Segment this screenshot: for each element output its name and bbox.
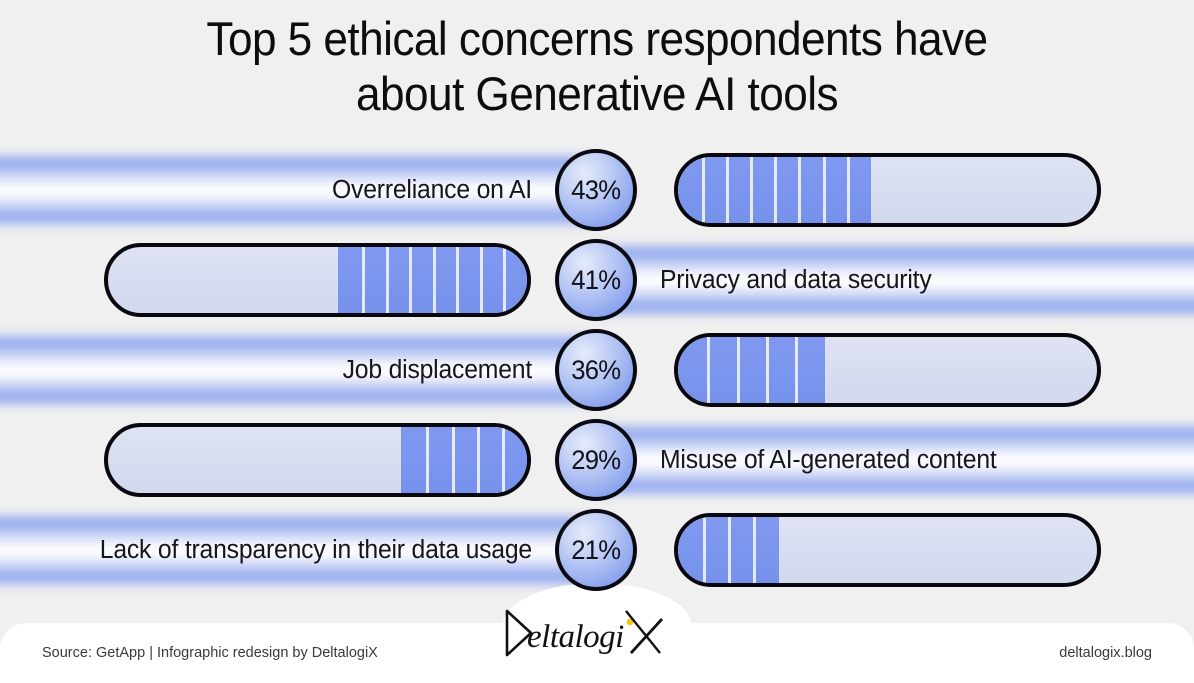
percent-value: 41% [571, 265, 620, 296]
progress-bar-fill [401, 427, 527, 493]
progress-bar-segments [338, 247, 527, 313]
website-url[interactable]: deltalogix.blog [1059, 623, 1152, 683]
concern-label: Lack of transparency in their data usage [16, 513, 532, 587]
concern-label: Overreliance on AI [16, 153, 532, 227]
progress-bar-segments [678, 157, 871, 223]
concern-label: Privacy and data security [660, 243, 1164, 317]
page-title-line-2: about Generative AI tools [36, 67, 1158, 122]
concern-row: Lack of transparency in their data usage… [0, 505, 1194, 595]
progress-bar-fill [678, 337, 825, 403]
progress-bar-fill [678, 517, 779, 583]
progress-bar-fill [338, 247, 527, 313]
progress-bar [674, 333, 1101, 407]
percent-badge: 21% [555, 509, 637, 591]
concern-row: Overreliance on AI43% [0, 145, 1194, 235]
percent-badge: 43% [555, 149, 637, 231]
percent-value: 21% [571, 535, 620, 566]
concern-label: Job displacement [16, 333, 532, 407]
deltalogix-logo: eltalogi [497, 605, 697, 661]
concerns-chart: Overreliance on AI43%Privacy and data se… [0, 145, 1194, 595]
concern-row: Job displacement36% [0, 325, 1194, 415]
progress-bar [104, 243, 531, 317]
svg-text:eltalogi: eltalogi [527, 619, 624, 655]
source-credit: Source: GetApp | Infographic redesign by… [42, 623, 378, 683]
concern-label: Misuse of AI-generated content [660, 423, 1164, 497]
progress-bar-segments [678, 517, 779, 583]
percent-badge: 41% [555, 239, 637, 321]
page-title: Top 5 ethical concerns respondents have … [0, 12, 1194, 122]
percent-badge: 29% [555, 419, 637, 501]
concern-row: Misuse of AI-generated content29% [0, 415, 1194, 505]
progress-bar [674, 513, 1101, 587]
page-title-line-1: Top 5 ethical concerns respondents have [206, 12, 987, 65]
progress-bar-segments [401, 427, 527, 493]
progress-bar-fill [678, 157, 871, 223]
concern-row: Privacy and data security41% [0, 235, 1194, 325]
percent-badge: 36% [555, 329, 637, 411]
percent-value: 29% [571, 445, 620, 476]
percent-value: 43% [571, 175, 620, 206]
progress-bar [104, 423, 531, 497]
footer-bar: Source: GetApp | Infographic redesign by… [0, 623, 1194, 683]
progress-bar [674, 153, 1101, 227]
progress-bar-segments [678, 337, 825, 403]
percent-value: 36% [571, 355, 620, 386]
